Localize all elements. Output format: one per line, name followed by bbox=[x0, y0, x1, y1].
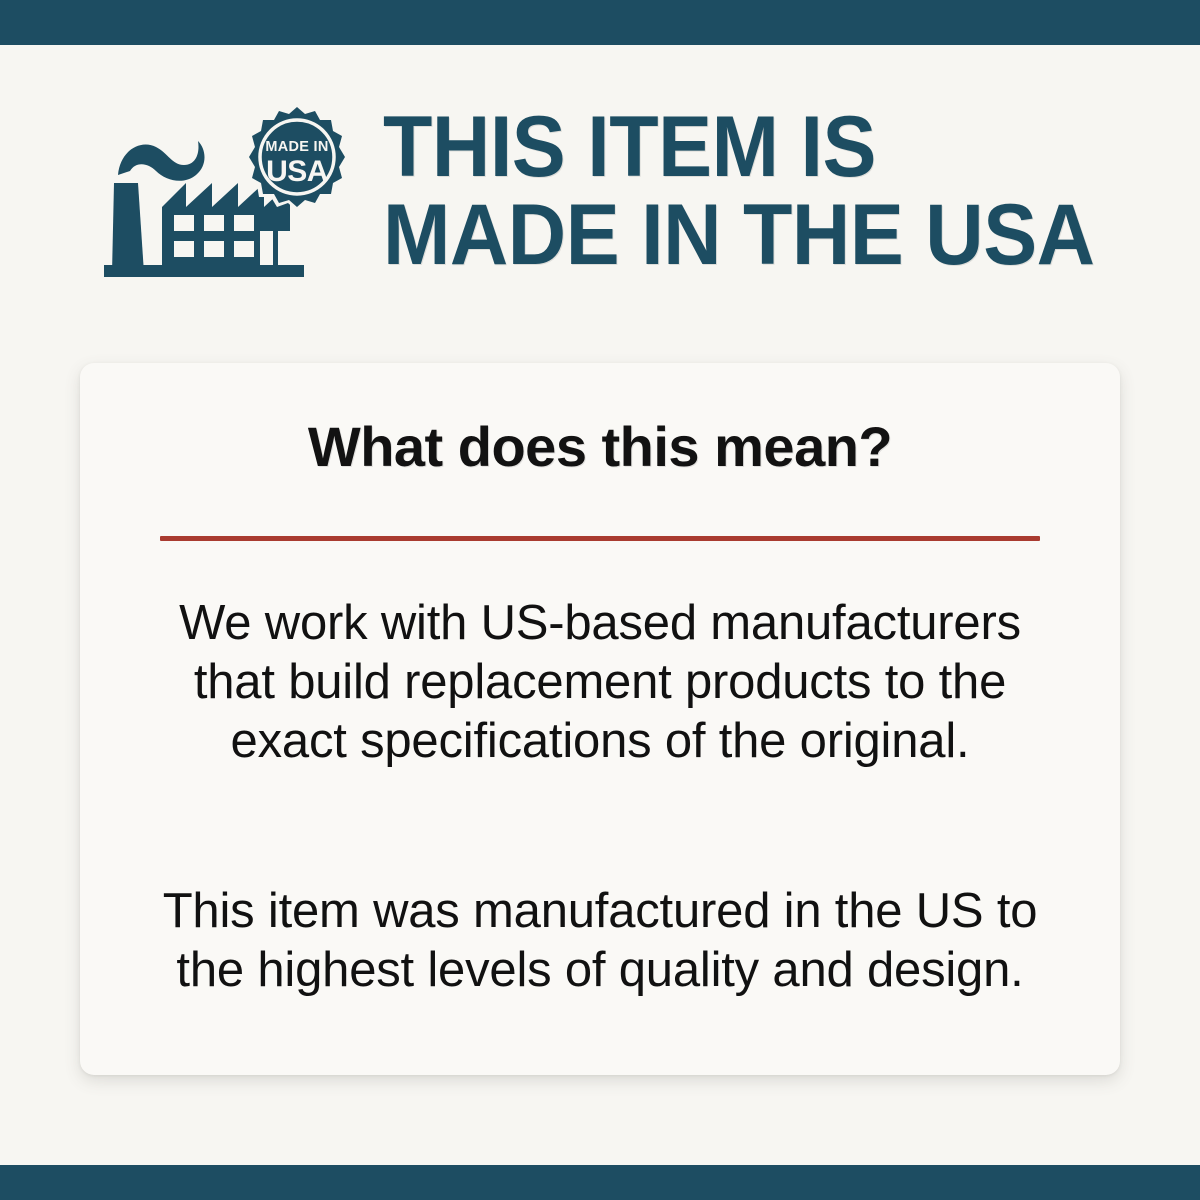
badge-line1: MADE IN bbox=[265, 139, 328, 155]
bottom-accent-bar bbox=[0, 1165, 1200, 1200]
factory-base-icon bbox=[104, 265, 304, 277]
headline-line-2: MADE IN THE USA bbox=[383, 191, 1135, 279]
page-title: THIS ITEM IS MADE IN THE USA bbox=[383, 103, 1135, 279]
paragraph-1: We work with US-based manufacturers that… bbox=[140, 594, 1060, 771]
paragraph-2-line-1: This item was manufactured in the US to bbox=[140, 882, 1060, 941]
paragraph-1-line-3: exact specifications of the original. bbox=[140, 712, 1060, 771]
top-accent-bar bbox=[0, 0, 1200, 45]
red-divider bbox=[160, 536, 1040, 541]
headline-line-1: THIS ITEM IS bbox=[383, 103, 1135, 191]
paragraph-1-line-2: that build replacement products to the bbox=[140, 653, 1060, 712]
page-header: MADE IN USA THIS ITEM IS MADE IN THE USA bbox=[0, 95, 1200, 295]
paragraph-2-line-2: the highest levels of quality and design… bbox=[140, 941, 1060, 1000]
info-card: What does this mean? We work with US-bas… bbox=[80, 363, 1120, 1075]
brand-logo: MADE IN USA bbox=[100, 103, 345, 288]
paragraph-1-line-1: We work with US-based manufacturers bbox=[140, 594, 1060, 653]
badge-line2: USA bbox=[266, 155, 328, 188]
paragraph-2: This item was manufactured in the US to … bbox=[140, 882, 1060, 1000]
chimney-icon bbox=[112, 183, 144, 273]
card-heading: What does this mean? bbox=[80, 418, 1120, 476]
smoke-icon bbox=[118, 141, 205, 181]
